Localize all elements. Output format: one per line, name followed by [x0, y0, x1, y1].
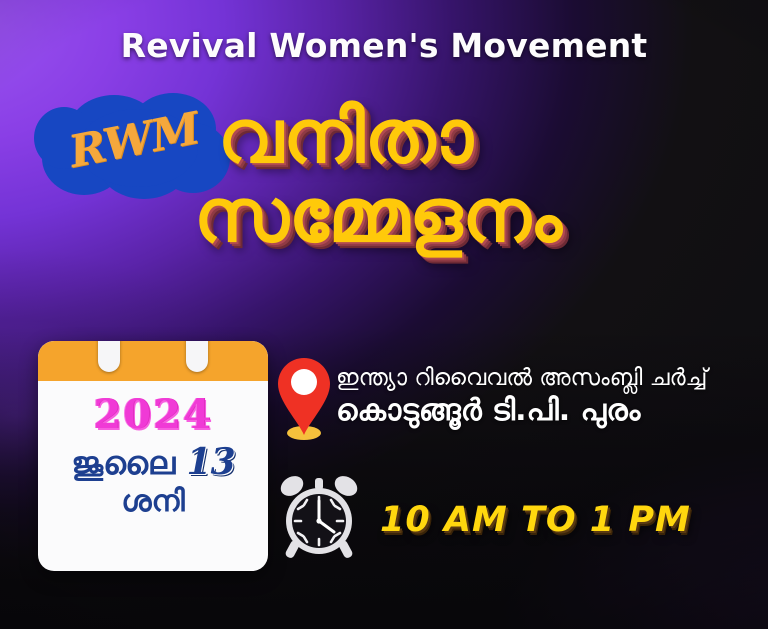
headline-line-2: സമ്മേളനം: [194, 179, 758, 254]
organization-title: Revival Women's Movement: [0, 26, 768, 65]
calendar-day: 13: [187, 441, 235, 483]
event-poster: Revival Women's Movement RWM വനിതാ സമ്മേ…: [0, 0, 768, 629]
location-pin-icon: [276, 355, 332, 441]
calendar-month: ജൂലൈ: [71, 444, 175, 482]
calendar-weekday: ശനി: [38, 485, 268, 518]
calendar-ring-icon: [98, 341, 120, 372]
calendar-year: 2024: [38, 395, 268, 435]
event-headline: വനിതാ സമ്മേളനം: [218, 100, 758, 255]
venue-address: ഇന്ത്യാ റിവൈവൽ അസംബ്ലി ചർച്ച് കൊടുങ്ങൂർ …: [336, 366, 764, 427]
headline-line-1: വനിതാ: [218, 100, 758, 175]
alarm-clock-icon: [276, 470, 362, 562]
event-time: 10 AM TO 1 PM: [380, 500, 691, 540]
calendar-header-bar: [38, 341, 268, 381]
calendar-ring-icon: [186, 341, 208, 372]
calendar-body: 2024 ജൂലൈ 13 ശനി: [38, 381, 268, 518]
calendar-month-day-row: ജൂലൈ 13: [38, 443, 268, 483]
venue-line-2: കൊടുങ്ങൂർ ടി.പി. പുരം: [336, 394, 764, 428]
calendar-card: 2024 ജൂലൈ 13 ശനി: [38, 341, 268, 571]
venue-line-1: ഇന്ത്യാ റിവൈവൽ അസംബ്ലി ചർച്ച്: [336, 366, 764, 392]
